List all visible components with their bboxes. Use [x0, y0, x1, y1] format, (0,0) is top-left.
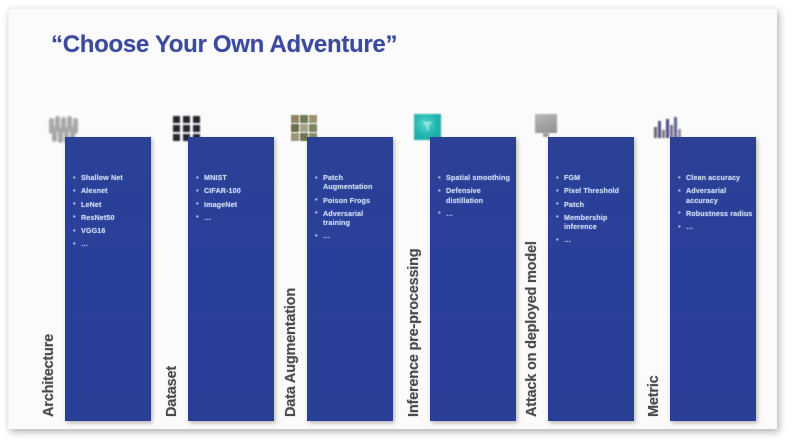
bullet-list: Patch Augmentation Poison Frogs Adversar… — [314, 173, 390, 245]
list-item: MNIST — [195, 173, 271, 182]
bullet-list: Spatial smoothing Defensive distillation… — [437, 173, 513, 222]
column-label: Dataset — [164, 147, 190, 417]
funnel-glyph — [421, 119, 434, 134]
list-item: … — [555, 235, 631, 244]
screenshot-root: “Choose Your Own Adventure” Architecture — [0, 0, 792, 445]
column-panel[interactable]: Shallow Net Alexnet LeNet ResNet50 VGG16… — [65, 137, 151, 421]
list-item: ImageNet — [195, 200, 271, 209]
list-item: Spatial smoothing — [437, 173, 513, 182]
list-item: Clean accuracy — [677, 173, 753, 182]
column-label: Metric — [646, 147, 672, 417]
column-label: Attack on deployed model — [524, 147, 550, 417]
list-item: … — [314, 231, 390, 240]
list-item: Alexnet — [72, 186, 148, 195]
list-item: … — [677, 222, 753, 231]
list-item: Pixel Threshold — [555, 186, 631, 195]
list-item: Poison Frogs — [314, 196, 390, 205]
column-panel[interactable]: FGM Pixel Threshold Patch Membership inf… — [548, 137, 634, 421]
list-item: … — [437, 209, 513, 218]
column-label: Data Augmentation — [283, 147, 309, 417]
bullet-list: Shallow Net Alexnet LeNet ResNet50 VGG16… — [72, 173, 148, 253]
list-item: Patch — [555, 200, 631, 209]
list-item: Patch Augmentation — [314, 173, 390, 192]
page-title: “Choose Your Own Adventure” — [51, 31, 397, 59]
bullet-list: FGM Pixel Threshold Patch Membership inf… — [555, 173, 631, 249]
list-item: Robustness radius — [677, 209, 753, 218]
list-item: Adversarial accuracy — [677, 186, 753, 205]
list-item: Membership inference — [555, 213, 631, 232]
column-label: Inference pre-processing — [406, 147, 432, 417]
column-label: Architecture — [41, 147, 67, 417]
presentation-slide: “Choose Your Own Adventure” Architecture — [8, 8, 777, 429]
column-panel[interactable]: Patch Augmentation Poison Frogs Adversar… — [307, 137, 393, 421]
list-item: … — [195, 213, 271, 222]
list-item: LeNet — [72, 200, 148, 209]
list-item: ResNet50 — [72, 213, 148, 222]
list-item: Shallow Net — [72, 173, 148, 182]
column-panel[interactable]: Spatial smoothing Defensive distillation… — [430, 137, 516, 421]
column-panel[interactable]: Clean accuracy Adversarial accuracy Robu… — [670, 137, 756, 421]
list-item: FGM — [555, 173, 631, 182]
list-item: VGG16 — [72, 226, 148, 235]
column-panel[interactable]: MNIST CIFAR-100 ImageNet … — [188, 137, 274, 421]
list-item: … — [72, 239, 148, 248]
list-item: CIFAR-100 — [195, 186, 271, 195]
bullet-list: MNIST CIFAR-100 ImageNet … — [195, 173, 271, 226]
bullet-list: Clean accuracy Adversarial accuracy Robu… — [677, 173, 753, 235]
list-item: Defensive distillation — [437, 186, 513, 205]
list-item: Adversarial training — [314, 209, 390, 228]
